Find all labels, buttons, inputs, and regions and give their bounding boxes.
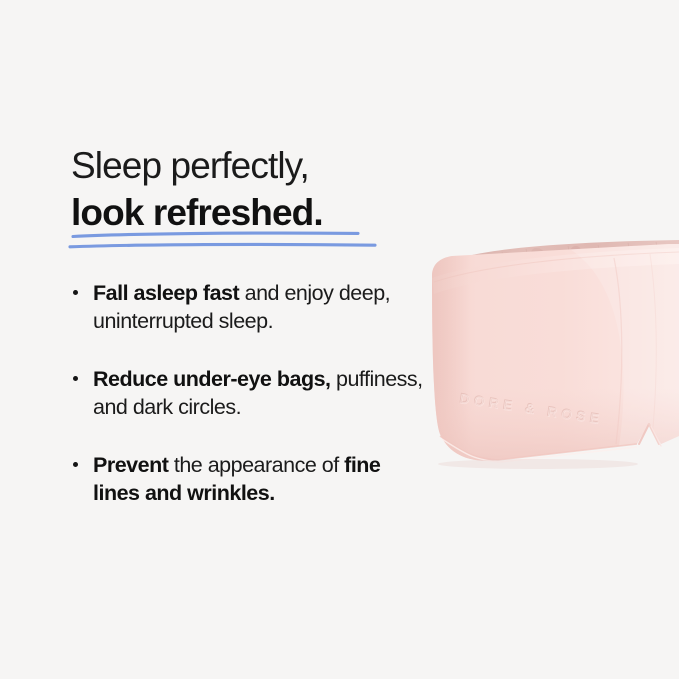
benefit-text: Fall asleep fast and enjoy deep, uninter…	[93, 279, 431, 335]
benefit-bold: Prevent	[93, 453, 168, 477]
headline-line-1: Sleep perfectly,	[71, 143, 431, 188]
list-item: Reduce under-eye bags, puffiness, and da…	[71, 365, 431, 421]
bullet-dot-icon	[73, 290, 78, 295]
product-image-sleep-mask: DORE & ROSE DORE & ROSE	[418, 238, 679, 488]
benefit-text: Prevent the appearance of fine lines and…	[93, 451, 431, 507]
benefit-bold: Fall asleep fast	[93, 281, 239, 305]
underline-stroke-bottom	[70, 244, 375, 246]
headline-block: Sleep perfectly, look refreshed.	[71, 143, 431, 235]
product-shadow	[438, 459, 638, 469]
list-item: Prevent the appearance of fine lines and…	[71, 451, 431, 507]
benefits-list: Fall asleep fast and enjoy deep, uninter…	[71, 279, 431, 507]
underline-accent	[62, 226, 392, 258]
product-banner: Sleep perfectly, look refreshed. Fall as…	[0, 0, 679, 679]
underline-stroke-top	[73, 233, 358, 236]
bullet-dot-icon	[73, 376, 78, 381]
bullet-dot-icon	[73, 462, 78, 467]
benefit-text: Reduce under-eye bags, puffiness, and da…	[93, 365, 431, 421]
benefit-rest: the appearance of	[168, 453, 344, 477]
list-item: Fall asleep fast and enjoy deep, uninter…	[71, 279, 431, 335]
benefit-bold: Reduce under-eye bags,	[93, 367, 331, 391]
